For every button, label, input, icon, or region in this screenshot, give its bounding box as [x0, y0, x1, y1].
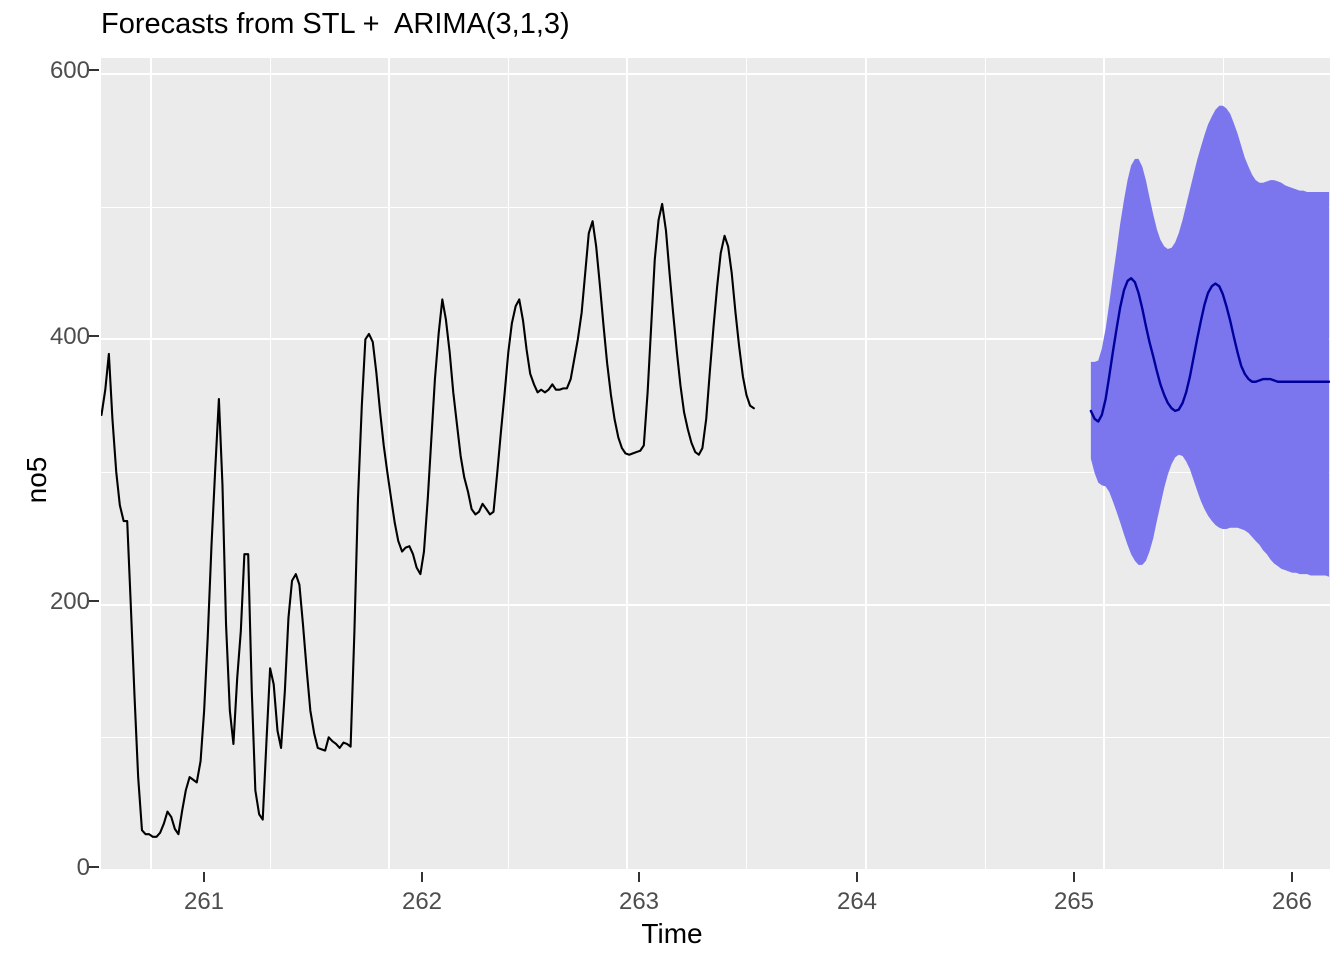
y-tick-label-0: 0	[77, 854, 90, 882]
x-tick-mark-264	[856, 872, 858, 882]
chart-figure: Forecasts from STL + ARIMA(3,1,3) 600 40…	[0, 0, 1344, 960]
x-tick-label-261: 261	[184, 888, 224, 916]
y-tick-mark-0	[89, 866, 99, 868]
chart-title: Forecasts from STL + ARIMA(3,1,3)	[101, 8, 570, 41]
y-tick-mark-200	[89, 600, 99, 602]
y-tick-mark-400	[89, 335, 99, 337]
plot-panel	[101, 58, 1330, 870]
historical-series-line	[101, 204, 753, 837]
x-tick-mark-261	[203, 872, 205, 882]
x-tick-mark-263	[638, 872, 640, 882]
y-axis-title: no5	[21, 420, 53, 540]
y-tick-label-600: 600	[50, 57, 90, 85]
x-tick-mark-265	[1073, 872, 1075, 882]
x-tick-mark-262	[421, 872, 423, 882]
x-tick-label-266: 266	[1272, 888, 1312, 916]
x-tick-label-262: 262	[402, 888, 442, 916]
x-axis-title: Time	[0, 918, 1344, 950]
x-tick-label-263: 263	[619, 888, 659, 916]
y-tick-label-200: 200	[50, 588, 90, 616]
data-layer	[101, 58, 1330, 870]
forecast-interval-band	[1091, 106, 1329, 577]
x-tick-label-265: 265	[1054, 888, 1094, 916]
y-tick-mark-600	[89, 69, 99, 71]
x-tick-mark-266	[1291, 872, 1293, 882]
x-tick-label-264: 264	[837, 888, 877, 916]
y-tick-label-400: 400	[50, 323, 90, 351]
